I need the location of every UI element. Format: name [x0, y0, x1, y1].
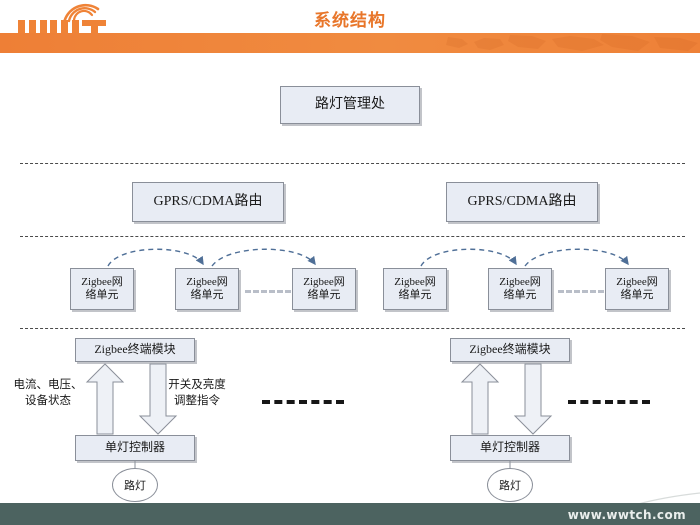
- slide-header: 系统结构: [0, 0, 700, 53]
- zigbee-mesh-arc: [108, 249, 315, 266]
- slide-footer: www.wwtch.com: [0, 503, 700, 525]
- node-router-right[interactable]: GPRS/CDMA路由: [446, 182, 598, 222]
- slide-canvas: 系统结构 路灯管理处 GPRS/CDMA路由 GPRS/CDMA路由: [0, 0, 700, 525]
- page-title: 系统结构: [0, 6, 700, 31]
- node-zigbee-network-unit[interactable]: Zigbee网 络单元: [383, 268, 447, 310]
- zigbee-unit-label-line2: 络单元: [621, 289, 654, 302]
- uplink-arrow-label: 电流、电压、 设备状态: [8, 378, 88, 409]
- node-zigbee-network-unit[interactable]: Zigbee网 络单元: [488, 268, 552, 310]
- footer-website-url[interactable]: www.wwtch.com: [568, 508, 686, 522]
- node-zigbee-network-unit[interactable]: Zigbee网 络单元: [175, 268, 239, 310]
- node-management-center[interactable]: 路灯管理处: [280, 86, 420, 124]
- downlink-arrow-label: 开关及亮度 调整指令: [158, 378, 236, 409]
- zigbee-unit-label-line1: Zigbee网: [81, 276, 123, 289]
- zigbee-unit-label-line1: Zigbee网: [303, 276, 345, 289]
- node-zigbee-network-unit[interactable]: Zigbee网 络单元: [605, 268, 669, 310]
- zigbee-unit-label-line1: Zigbee网: [186, 276, 228, 289]
- zigbee-unit-label-line1: Zigbee网: [616, 276, 658, 289]
- terminal-group-ellipsis-left: [262, 400, 344, 404]
- uplink-label-line1: 电流、电压、: [8, 378, 88, 394]
- uplink-block-arrow: [87, 364, 123, 434]
- node-router-left-label: GPRS/CDMA路由: [154, 194, 263, 210]
- lamp-controller-label: 单灯控制器: [480, 441, 540, 455]
- terminal-module-label: Zigbee终端模块: [469, 343, 550, 357]
- zigbee-unit-label-line2: 络单元: [191, 289, 224, 302]
- zigbee-unit-label-line2: 络单元: [308, 289, 341, 302]
- node-router-left[interactable]: GPRS/CDMA路由: [132, 182, 284, 222]
- node-zigbee-network-unit[interactable]: Zigbee网 络单元: [292, 268, 356, 310]
- header-accent-bar: [0, 33, 700, 53]
- downlink-block-arrow: [515, 364, 551, 434]
- node-street-lamp[interactable]: 路灯: [112, 468, 158, 502]
- node-router-right-label: GPRS/CDMA路由: [468, 194, 577, 210]
- downlink-label-line1: 开关及亮度: [158, 378, 236, 394]
- ellipsis-connector-right: [558, 290, 604, 293]
- layer-separator-3: [20, 328, 685, 329]
- terminal-module-label: Zigbee终端模块: [94, 343, 175, 357]
- street-lamp-label: 路灯: [124, 477, 146, 493]
- lamp-controller-label: 单灯控制器: [105, 441, 165, 455]
- layer-separator-2: [20, 236, 685, 237]
- terminal-group-ellipsis-right: [568, 400, 650, 404]
- zigbee-unit-label-line2: 络单元: [86, 289, 119, 302]
- downlink-label-line2: 调整指令: [158, 394, 236, 410]
- node-zigbee-network-unit[interactable]: Zigbee网 络单元: [70, 268, 134, 310]
- node-zigbee-terminal-module[interactable]: Zigbee终端模块: [75, 338, 195, 362]
- uplink-label-line2: 设备状态: [8, 394, 88, 410]
- zigbee-mesh-arc: [421, 249, 628, 266]
- zigbee-unit-label-line2: 络单元: [504, 289, 537, 302]
- node-lamp-controller[interactable]: 单灯控制器: [75, 435, 195, 461]
- node-management-center-label: 路灯管理处: [315, 97, 385, 113]
- uplink-block-arrow: [462, 364, 498, 434]
- zigbee-unit-label-line1: Zigbee网: [499, 276, 541, 289]
- zigbee-unit-label-line1: Zigbee网: [394, 276, 436, 289]
- node-zigbee-terminal-module[interactable]: Zigbee终端模块: [450, 338, 570, 362]
- node-lamp-controller[interactable]: 单灯控制器: [450, 435, 570, 461]
- ellipsis-connector-left: [245, 290, 291, 293]
- world-map-texture: [440, 33, 700, 53]
- layer-separator-1: [20, 163, 685, 164]
- zigbee-unit-label-line2: 络单元: [399, 289, 432, 302]
